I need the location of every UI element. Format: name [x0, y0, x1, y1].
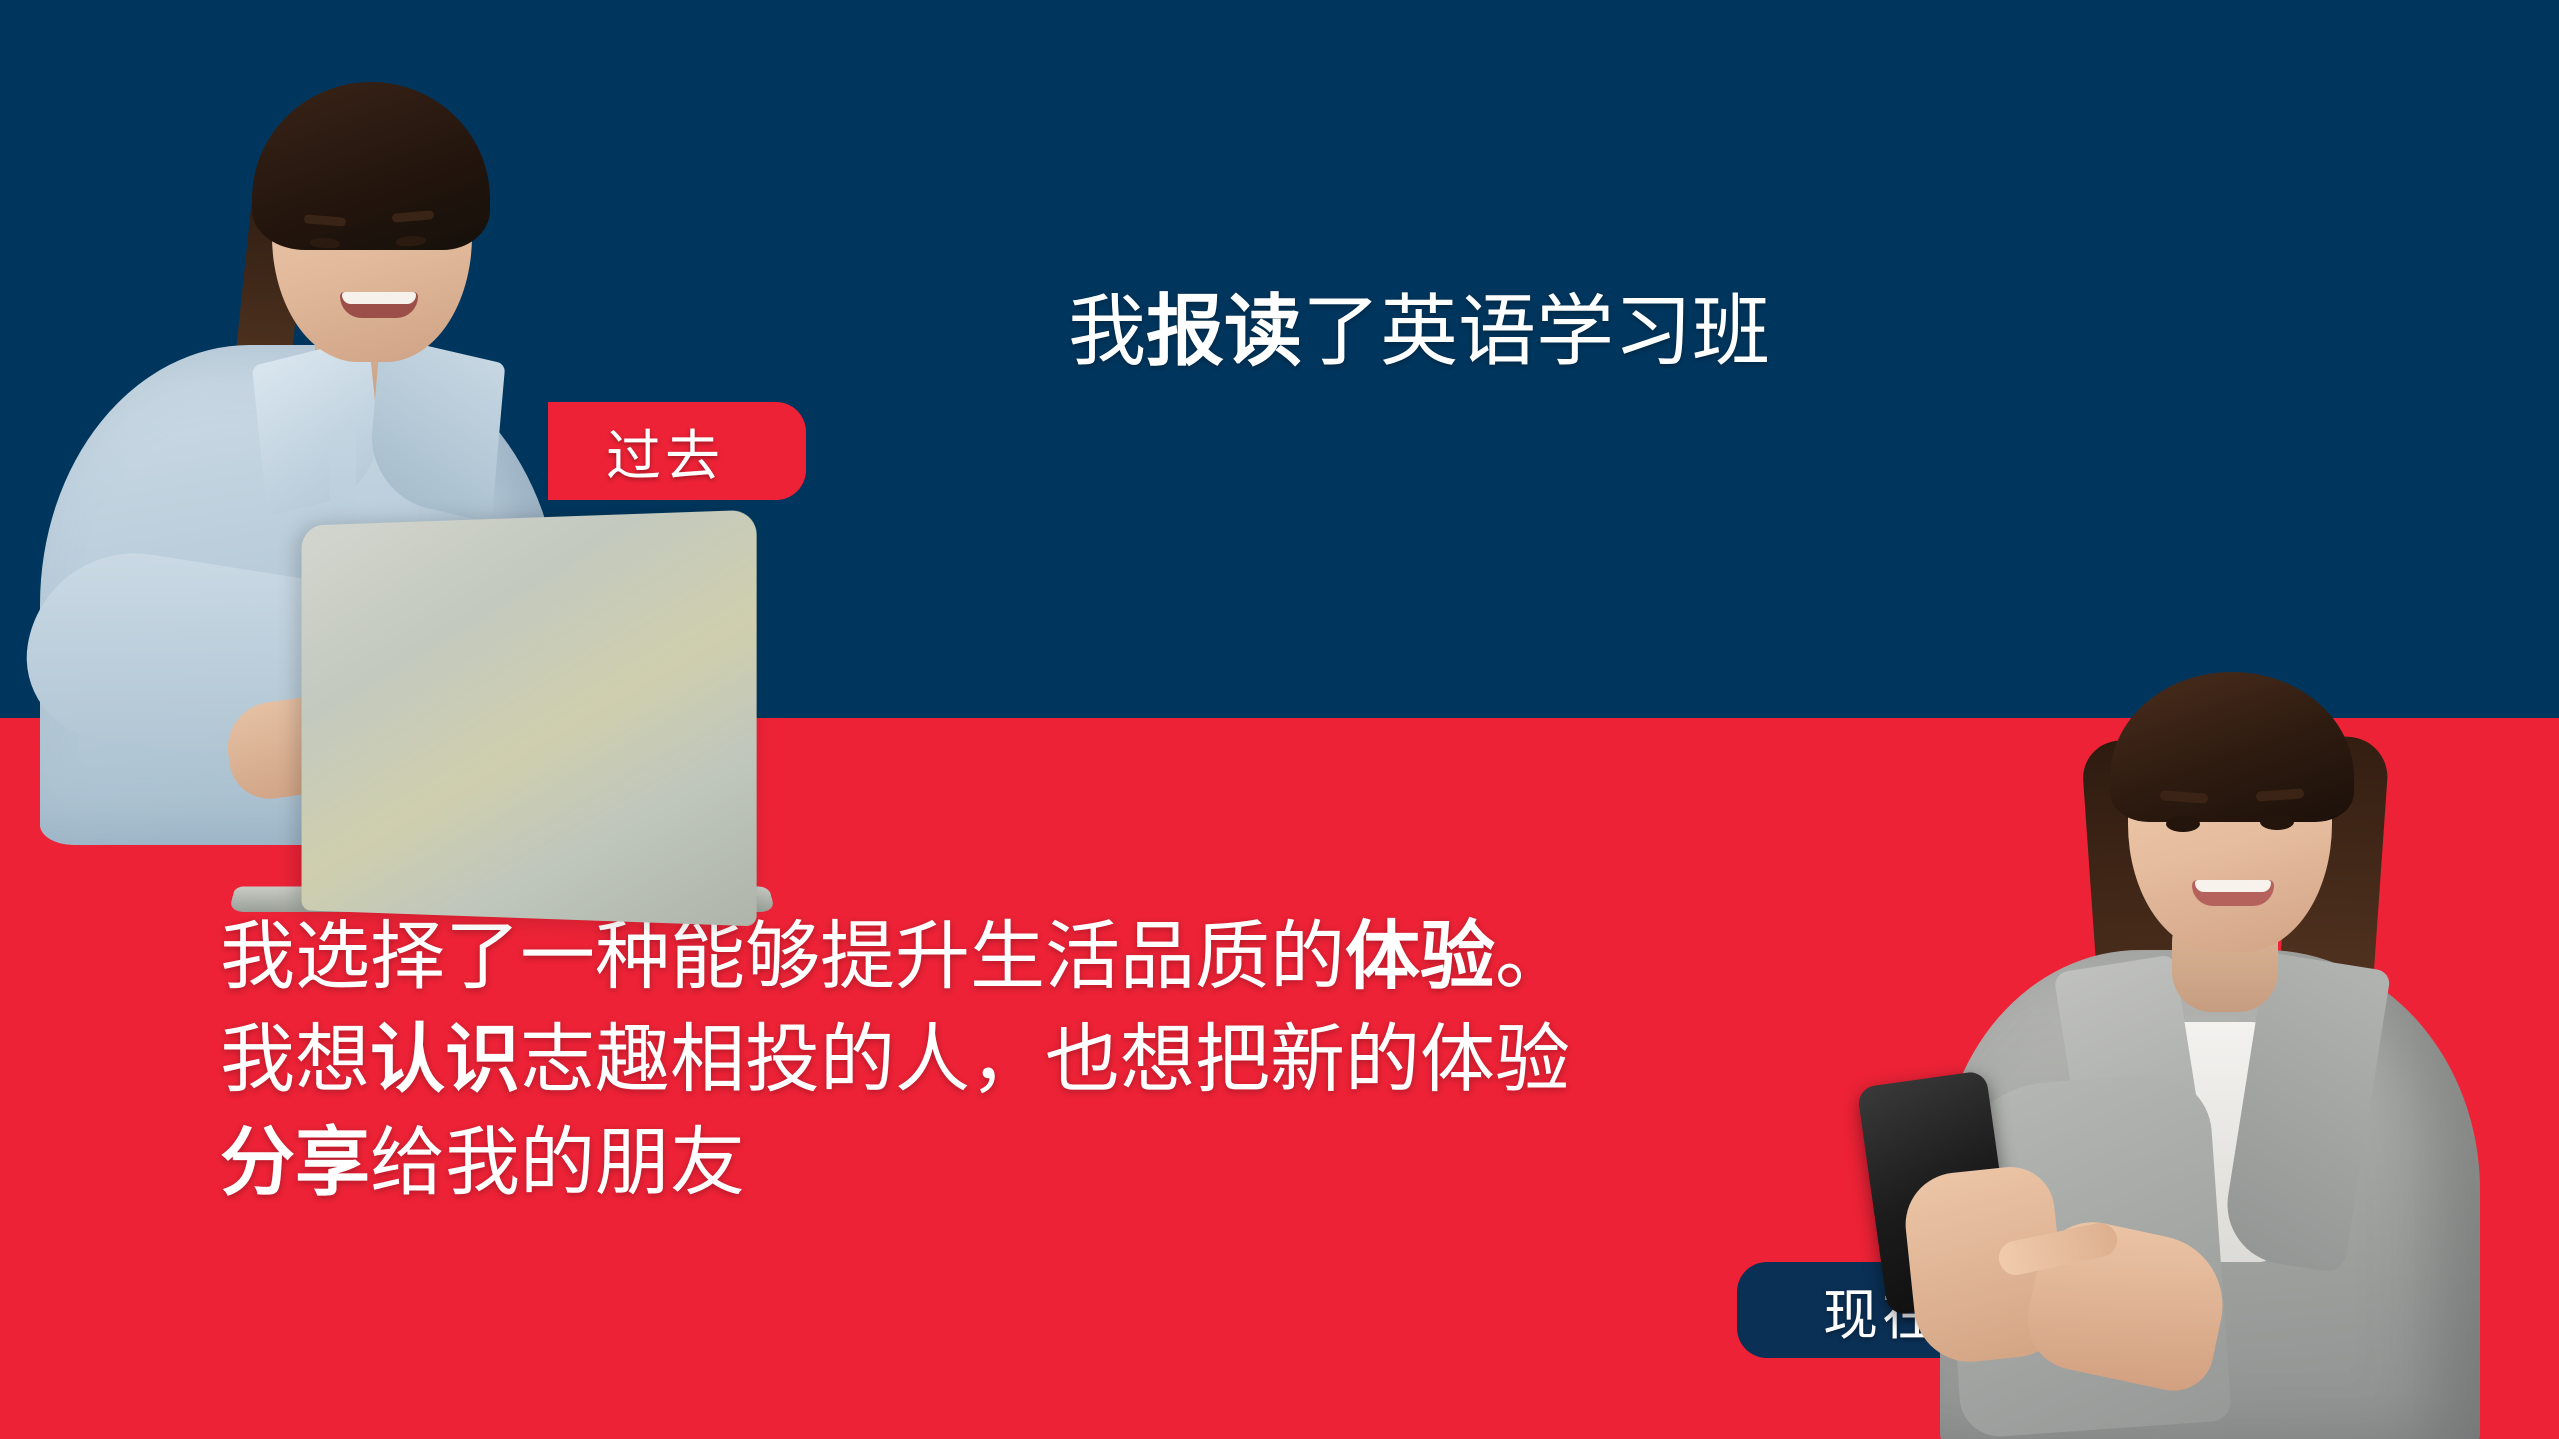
- body-line-1-segment-2-emphasis: 体验: [1345, 914, 1495, 998]
- phone-woman-eye-left: [2166, 816, 2200, 832]
- timeline-badge-past-label: 过去: [606, 411, 724, 491]
- body-line-2-segment-1: 我想: [220, 1017, 370, 1101]
- body-line-1-segment-3: 。: [1495, 914, 1570, 998]
- laptop-lid: [302, 510, 757, 927]
- body-copy-line-1: 我选择了一种能够提升生活品质的体验。: [220, 905, 1570, 1008]
- body-copy-line-3: 分享给我的朋友: [220, 1111, 1570, 1214]
- body-line-3-segment-1-emphasis: 分享: [220, 1120, 370, 1204]
- slide-canvas: 过去 我报读了英语学习班 我选择了一种能够提升生活品质的体验。 我想认识志趣相投…: [0, 0, 2559, 1439]
- headline-segment-1: 我: [1068, 287, 1146, 375]
- phone-woman-eye-right: [2260, 814, 2294, 830]
- laptop-woman-hair: [252, 82, 490, 250]
- headline-segment-3: 了英语学习班: [1302, 287, 1770, 375]
- headline-text: 我报读了英语学习班: [1068, 288, 1770, 375]
- body-line-2-segment-3: 志趣相投的人，也想把新的体验: [520, 1017, 1570, 1101]
- phone-woman-mouth: [2192, 880, 2274, 906]
- body-copy-text: 我选择了一种能够提升生活品质的体验。 我想认识志趣相投的人，也想把新的体验 分享…: [220, 905, 1570, 1213]
- headline-segment-2-emphasis: 报读: [1146, 287, 1302, 375]
- body-line-1-segment-1: 我选择了一种能够提升生活品质的: [220, 914, 1345, 998]
- phone-woman-hair-top: [2110, 672, 2354, 822]
- body-line-3-segment-2: 给我的朋友: [370, 1120, 745, 1204]
- phone-woman-teeth: [2195, 880, 2271, 892]
- body-copy-line-2: 我想认识志趣相投的人，也想把新的体验: [220, 1008, 1570, 1111]
- laptop-woman-teeth: [342, 292, 416, 304]
- body-line-2-segment-2-emphasis: 认识: [370, 1017, 520, 1101]
- timeline-badge-past: 过去: [548, 402, 806, 500]
- woman-using-smartphone-photo: [1880, 610, 2559, 1439]
- laptop-woman-mouth: [340, 292, 418, 318]
